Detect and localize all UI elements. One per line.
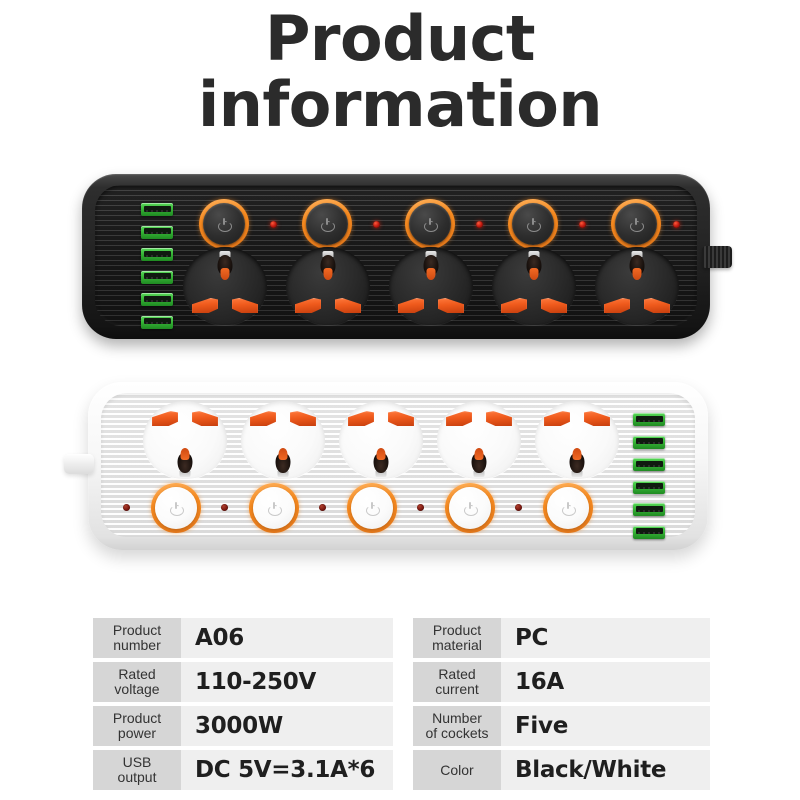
- earth-slot-icon: [320, 251, 337, 285]
- usb-port-icon[interactable]: [141, 203, 173, 216]
- spec-value: 110-250V: [181, 662, 393, 702]
- table-row: Rated current 16A: [413, 662, 710, 702]
- usb-port-icon[interactable]: [141, 316, 173, 329]
- spec-value: Five: [501, 706, 710, 746]
- spec-label-line-1: Rated: [118, 667, 155, 682]
- indicator-led: [515, 504, 522, 511]
- spec-label-line-2: output: [118, 770, 157, 785]
- spec-label-line-1: Product: [433, 623, 481, 638]
- usb-port-icon[interactable]: [141, 248, 173, 261]
- spec-label: Rated current: [413, 662, 501, 702]
- earth-slot-icon: [629, 251, 646, 285]
- black-power-strip: [82, 174, 710, 339]
- earth-slot-icon: [177, 443, 194, 477]
- table-row: Product number A06: [93, 618, 393, 658]
- spec-label-line-1: Product: [113, 711, 161, 726]
- switch-cap: [253, 487, 295, 529]
- power-switch-button[interactable]: [347, 483, 397, 533]
- earth-slot-icon: [423, 251, 440, 285]
- spec-value: DC 5V=3.1A*6: [181, 750, 393, 790]
- usb-port-icon[interactable]: [633, 413, 665, 426]
- indicator-led: [221, 504, 228, 511]
- spec-label-line-2: power: [118, 726, 156, 741]
- spec-value: A06: [181, 618, 393, 658]
- indicator-led: [417, 504, 424, 511]
- black-strip-usb-port-group: [141, 203, 173, 329]
- spec-label-line-2: voltage: [114, 682, 159, 697]
- power-switch-button[interactable]: [405, 199, 455, 249]
- universal-socket[interactable]: [492, 247, 576, 325]
- power-icon: [630, 218, 642, 230]
- power-icon: [527, 218, 539, 230]
- universal-socket[interactable]: [143, 401, 227, 479]
- spec-label-line-1: USB: [123, 755, 152, 770]
- universal-socket[interactable]: [241, 401, 325, 479]
- black-strip-face: [95, 185, 697, 326]
- product-information-page: Product information: [0, 0, 800, 800]
- power-icon: [366, 502, 378, 514]
- white-strip-usb-port-group: [633, 413, 665, 539]
- usb-port-icon[interactable]: [141, 271, 173, 284]
- switch-cap: [306, 203, 348, 245]
- spec-table-left: Product number A06 Rated voltage 110-250…: [93, 618, 393, 790]
- spec-label: USB output: [93, 750, 181, 790]
- power-icon: [464, 502, 476, 514]
- universal-socket[interactable]: [535, 401, 619, 479]
- power-switch-button[interactable]: [543, 483, 593, 533]
- universal-socket[interactable]: [437, 401, 521, 479]
- switch-cap: [155, 487, 197, 529]
- indicator-led: [123, 504, 130, 511]
- power-switch-button[interactable]: [151, 483, 201, 533]
- usb-port-icon[interactable]: [141, 293, 173, 306]
- spec-label: Color: [413, 750, 501, 790]
- universal-socket[interactable]: [389, 247, 473, 325]
- table-row: USB output DC 5V=3.1A*6: [93, 750, 393, 790]
- spec-value: PC: [501, 618, 710, 658]
- spec-label-line-2: current: [435, 682, 479, 697]
- spec-value: 3000W: [181, 706, 393, 746]
- table-row: Color Black/White: [413, 750, 710, 790]
- earth-slot-icon: [275, 443, 292, 477]
- switch-cap: [203, 203, 245, 245]
- spec-label-line-1: Product: [113, 623, 161, 638]
- switch-cap: [351, 487, 393, 529]
- power-icon: [424, 218, 436, 230]
- earth-slot-icon: [471, 443, 488, 477]
- power-cable-strain-relief: [702, 246, 732, 268]
- page-title-line-1: Product: [0, 8, 800, 70]
- power-icon: [268, 502, 280, 514]
- indicator-led: [476, 221, 483, 228]
- switch-cap: [615, 203, 657, 245]
- indicator-led: [319, 504, 326, 511]
- spec-label-line-1: Rated: [438, 667, 475, 682]
- usb-port-icon[interactable]: [141, 226, 173, 239]
- power-icon: [170, 502, 182, 514]
- table-row: Rated voltage 110-250V: [93, 662, 393, 702]
- usb-port-icon[interactable]: [633, 436, 665, 449]
- earth-slot-icon: [373, 443, 390, 477]
- table-row: Product material PC: [413, 618, 710, 658]
- power-switch-button[interactable]: [445, 483, 495, 533]
- white-power-strip: [88, 382, 708, 550]
- earth-slot-icon: [217, 251, 234, 285]
- spec-value: Black/White: [501, 750, 710, 790]
- indicator-led: [270, 221, 277, 228]
- power-icon: [321, 218, 333, 230]
- usb-port-icon[interactable]: [633, 503, 665, 516]
- white-strip-face: [101, 393, 695, 537]
- page-title-line-2: information: [0, 74, 800, 136]
- page-title: Product information: [0, 8, 800, 136]
- switch-cap: [547, 487, 589, 529]
- spec-label-line-2: material: [432, 638, 482, 653]
- table-row: Number of cockets Five: [413, 706, 710, 746]
- power-switch-button[interactable]: [302, 199, 352, 249]
- table-row: Product power 3000W: [93, 706, 393, 746]
- indicator-led: [579, 221, 586, 228]
- power-switch-button[interactable]: [199, 199, 249, 249]
- universal-socket[interactable]: [339, 401, 423, 479]
- switch-cap: [409, 203, 451, 245]
- usb-port-icon[interactable]: [633, 481, 665, 494]
- switch-cap: [512, 203, 554, 245]
- power-icon: [218, 218, 230, 230]
- spec-label-line-2: number: [113, 638, 160, 653]
- spec-label-line-2: of cockets: [425, 726, 488, 741]
- spec-label: Product number: [93, 618, 181, 658]
- spec-label: Product power: [93, 706, 181, 746]
- spec-value: 16A: [501, 662, 710, 702]
- usb-port-icon[interactable]: [633, 526, 665, 539]
- spec-label: Product material: [413, 618, 501, 658]
- earth-slot-icon: [569, 443, 586, 477]
- spec-label-line-1: Color: [440, 763, 473, 778]
- power-icon: [562, 502, 574, 514]
- universal-socket[interactable]: [286, 247, 370, 325]
- spec-label: Number of cockets: [413, 706, 501, 746]
- power-switch-button[interactable]: [249, 483, 299, 533]
- spec-label: Rated voltage: [93, 662, 181, 702]
- switch-cap: [449, 487, 491, 529]
- indicator-led: [673, 221, 680, 228]
- universal-socket[interactable]: [183, 247, 267, 325]
- spec-table-right: Product material PC Rated current 16A Nu…: [413, 618, 710, 790]
- power-switch-button[interactable]: [611, 199, 661, 249]
- usb-port-icon[interactable]: [633, 458, 665, 471]
- spec-label-line-1: Number: [432, 711, 482, 726]
- universal-socket[interactable]: [595, 247, 679, 325]
- indicator-led: [373, 221, 380, 228]
- power-cable-strain-relief: [64, 454, 94, 474]
- earth-slot-icon: [526, 251, 543, 285]
- power-switch-button[interactable]: [508, 199, 558, 249]
